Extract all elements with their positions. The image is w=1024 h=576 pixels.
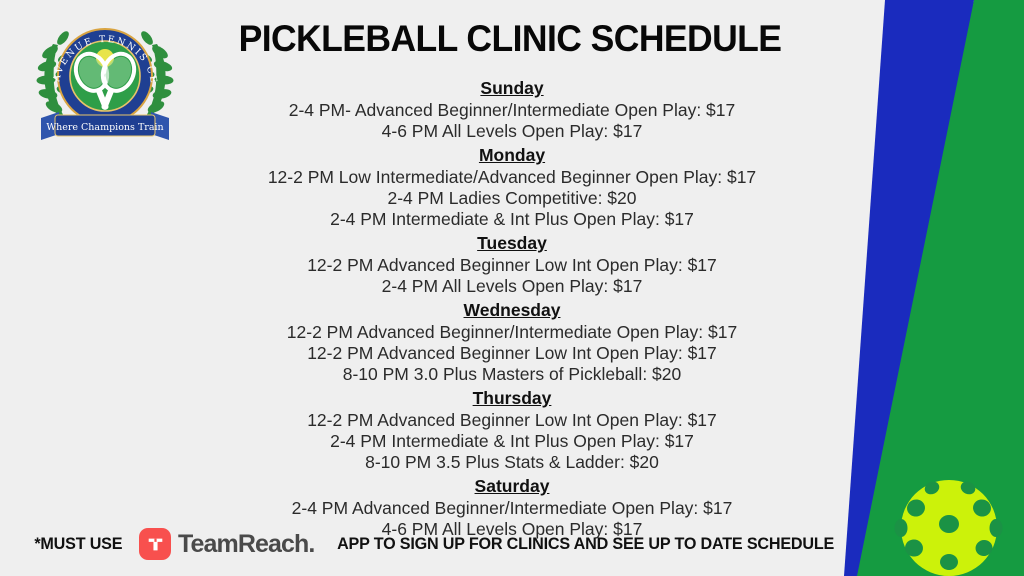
footer-note: *MUST USE TeamReach. APP TO SIGN UP FOR … xyxy=(0,528,880,560)
pickleball-clinic-poster: PARK AVENUE TENNIS CENTER Where Champion… xyxy=(0,0,1024,576)
session-line: 2-4 PM Ladies Competitive: $20 xyxy=(112,188,912,209)
day-block-sunday: Sunday 2-4 PM- Advanced Beginner/Interme… xyxy=(112,78,912,142)
page-title: PICKLEBALL CLINIC SCHEDULE xyxy=(203,18,817,60)
teamreach-mark-icon xyxy=(139,528,171,560)
day-heading: Monday xyxy=(112,145,912,166)
schedule-list: Sunday 2-4 PM- Advanced Beginner/Interme… xyxy=(112,78,912,543)
day-block-thursday: Thursday 12-2 PM Advanced Beginner Low I… xyxy=(112,388,912,473)
session-line: 2-4 PM Advanced Beginner/Intermediate Op… xyxy=(112,498,912,519)
session-line: 2-4 PM Intermediate & Int Plus Open Play… xyxy=(112,209,912,230)
day-heading: Sunday xyxy=(112,78,912,99)
session-line: 8-10 PM 3.0 Plus Masters of Pickleball: … xyxy=(112,364,912,385)
day-block-monday: Monday 12-2 PM Low Intermediate/Advanced… xyxy=(112,145,912,230)
session-line: 2-4 PM- Advanced Beginner/Intermediate O… xyxy=(112,100,912,121)
session-line: 12-2 PM Advanced Beginner Low Int Open P… xyxy=(112,255,912,276)
day-heading: Tuesday xyxy=(112,233,912,254)
session-line: 2-4 PM Intermediate & Int Plus Open Play… xyxy=(112,431,912,452)
day-heading: Wednesday xyxy=(112,300,912,321)
footer-suffix-text: APP TO SIGN UP FOR CLINICS AND SEE UP TO… xyxy=(338,534,835,554)
session-line: 12-2 PM Advanced Beginner Low Int Open P… xyxy=(112,410,912,431)
footer-prefix-text: *MUST USE xyxy=(35,534,123,554)
session-line: 12-2 PM Low Intermediate/Advanced Beginn… xyxy=(112,167,912,188)
teamreach-logo: TeamReach. xyxy=(139,528,314,560)
day-heading: Saturday xyxy=(112,476,912,497)
day-heading: Thursday xyxy=(112,388,912,409)
day-block-tuesday: Tuesday 12-2 PM Advanced Beginner Low In… xyxy=(112,233,912,297)
session-line: 4-6 PM All Levels Open Play: $17 xyxy=(112,121,912,142)
teamreach-wordmark: TeamReach. xyxy=(178,530,314,559)
session-line: 2-4 PM All Levels Open Play: $17 xyxy=(112,276,912,297)
session-line: 12-2 PM Advanced Beginner/Intermediate O… xyxy=(112,322,912,343)
day-block-wednesday: Wednesday 12-2 PM Advanced Beginner/Inte… xyxy=(112,300,912,385)
session-line: 8-10 PM 3.5 Plus Stats & Ladder: $20 xyxy=(112,452,912,473)
session-line: 12-2 PM Advanced Beginner Low Int Open P… xyxy=(112,343,912,364)
